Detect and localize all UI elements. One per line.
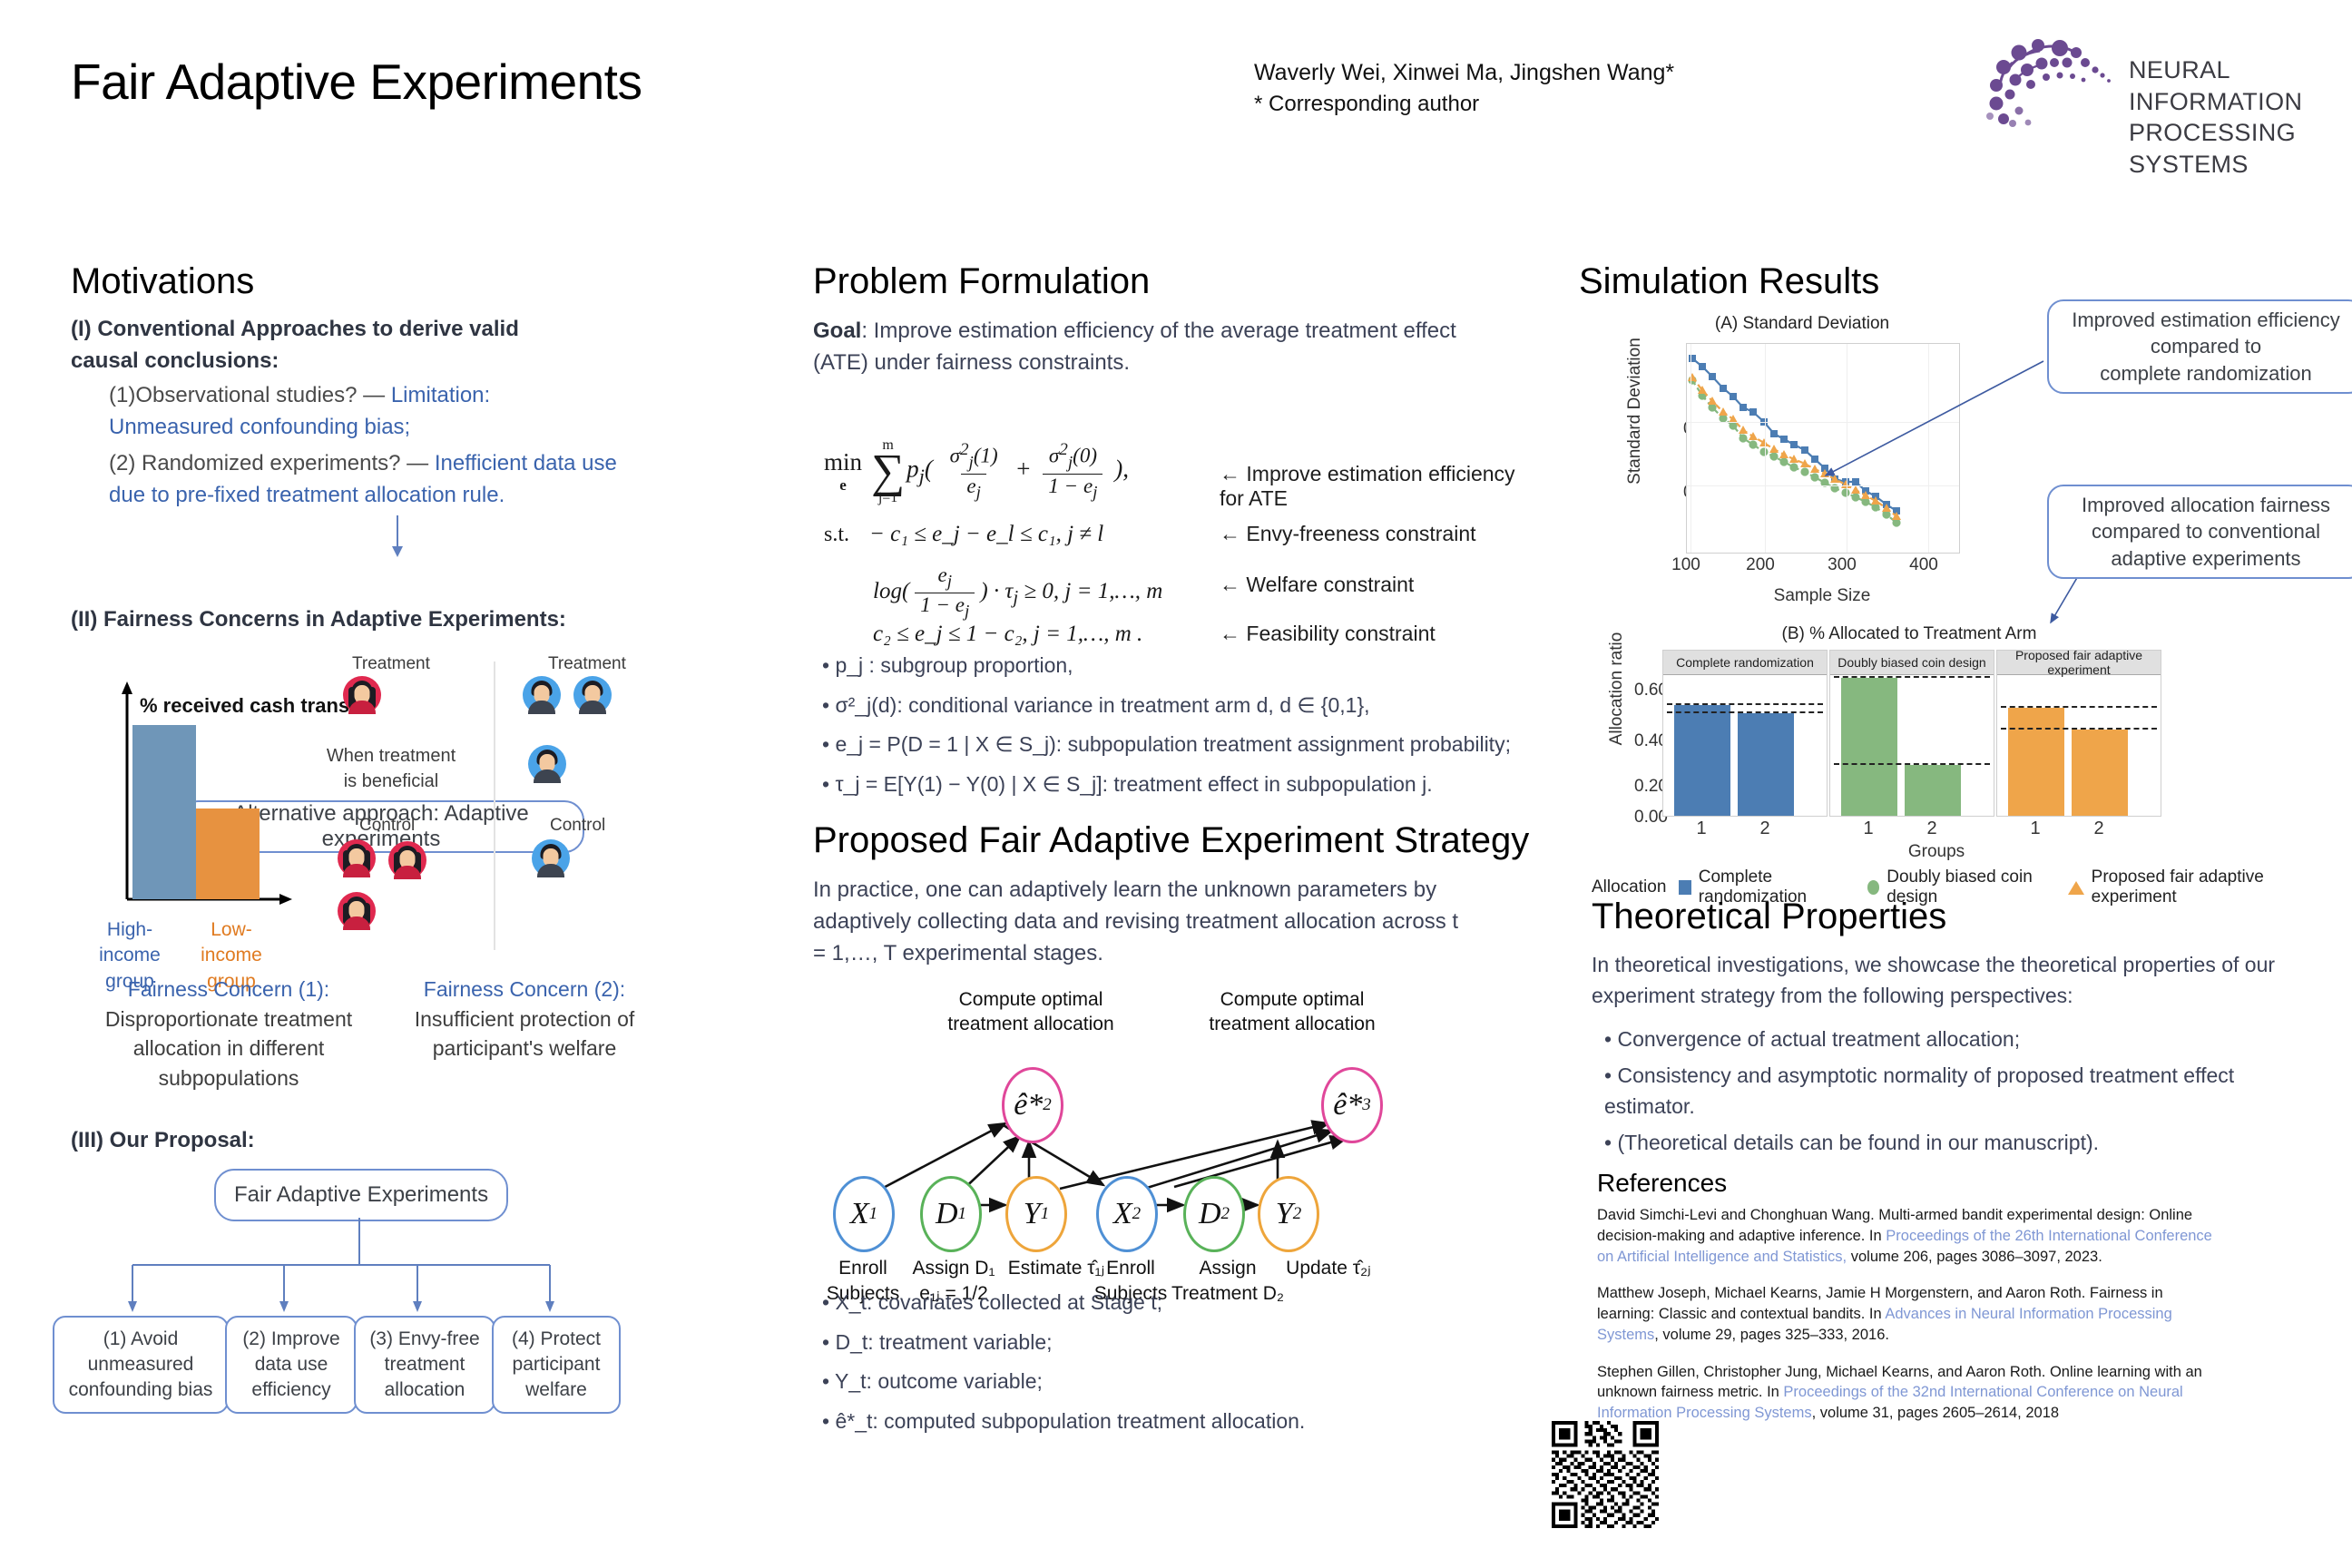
chart-a-xtick: 200 <box>1746 555 1775 575</box>
dag-node-x2: X2 <box>1096 1176 1158 1252</box>
chart-a-plot-area <box>1686 343 1960 554</box>
fairness-concern-2: Fairness Concern (2): Insufficient prote… <box>388 975 661 1063</box>
label-control-left: Control <box>359 816 415 836</box>
subject-to-label: s.t. <box>824 523 849 547</box>
reference-tail: volume 206, pages 3086–3097, 2023. <box>1847 1249 2102 1265</box>
proposal-leaf-4[interactable]: (4) Protect participant welfare <box>492 1316 621 1414</box>
facet-strip-label: Doubly biased coin design <box>1830 651 1994 675</box>
callout-fairness-line2: compared to conventional <box>2082 518 2330 544</box>
dag-node-x1: X1 <box>833 1176 895 1252</box>
avatar-male <box>523 676 561 714</box>
callout-efficiency: Improved estimation efficiency compared … <box>2047 299 2352 394</box>
chart-b-reference-line <box>2001 728 2157 730</box>
author-names: Waverly Wei, Xinwei Ma, Jingshen Wang* <box>1254 56 1674 89</box>
logo-text: NEURAL INFORMATION PROCESSING SYSTEMS <box>2129 54 2321 180</box>
problem-goal-text: : Improve estimation efficiency of the a… <box>813 318 1456 375</box>
legend-item-proposed: Proposed fair adaptive experiment <box>2068 867 2308 907</box>
section-title-problem-formulation: Problem Formulation <box>813 261 1150 302</box>
chart-b-bar <box>2008 708 2064 816</box>
avatar-female <box>338 892 376 930</box>
fairness-concern-2-body: Insufficient protection of participant's… <box>388 1004 661 1063</box>
chart-b-reference-line <box>1834 676 1990 678</box>
legend-circle-icon <box>1867 880 1879 895</box>
chart-b-reference-line <box>1834 763 1990 765</box>
bar-high-income <box>132 725 196 899</box>
note-line-2: is beneficial <box>305 769 477 794</box>
theory-paragraph: In theoretical investigations, we showca… <box>1592 949 2281 1011</box>
treatment-beneficial-note: When treatment is beneficial <box>305 743 477 794</box>
legend-square-icon <box>1679 880 1690 895</box>
variable-item: • X_t: covariates collected at Stage t; <box>822 1283 1539 1323</box>
treatment-allocation-illustration: Treatment When treatment is beneficial C… <box>305 654 704 954</box>
chart-a-series <box>1687 344 1959 553</box>
problem-goal: Goal: Improve estimation efficiency of t… <box>813 316 1475 379</box>
motivations-item-2: (2) Randomized experiments? — Inefficien… <box>109 447 617 511</box>
label-control-right: Control <box>550 816 605 836</box>
bar-label-low-income-line1: Low-income <box>181 917 281 969</box>
dag-footnote-y2: Update τ̂₂ⱼ <box>1265 1256 1392 1281</box>
cash-transfer-bar-chart: % received cash transfer High-income gro… <box>91 674 299 946</box>
reference-item: Stephen Gillen, Christopher Jung, Michae… <box>1597 1362 2223 1424</box>
fairness-illustration: % received cash transfer High-income gro… <box>71 647 706 954</box>
chart-a-xtick: 100 <box>1671 555 1700 575</box>
chart-a-xtick: 400 <box>1909 555 1938 575</box>
corresponding-author-note: * Corresponding author <box>1254 89 1674 121</box>
neurips-swirl-icon <box>1976 33 2131 132</box>
chart-b-x-axis-label: Groups <box>1646 842 2227 862</box>
chart-b-reference-line <box>1667 711 1823 713</box>
tree-connectors <box>71 1218 697 1327</box>
motivations-heading-2: (II) Fairness Concerns in Adaptive Exper… <box>71 604 566 636</box>
poster-canvas: Fair Adaptive Experiments Waverly Wei, X… <box>0 0 2352 1568</box>
fairness-concern-1: Fairness Concern (1): Disproportionate t… <box>93 975 365 1093</box>
chart-a-title: (A) Standard Deviation <box>1612 314 1993 334</box>
welfare-expression: log(ej1 − ej) · τj ≥ 0, j = 1,…, m <box>873 563 1162 622</box>
note-line-1: When treatment <box>305 743 477 769</box>
dag-caption-left-line2: treatment allocation <box>931 1012 1131 1036</box>
section-title-strategy: Proposed Fair Adaptive Experiment Strate… <box>813 820 1529 861</box>
fairness-concern-1-body: Disproportionate treatment allocation in… <box>93 1004 365 1093</box>
dag-node-d2: D2 <box>1183 1176 1245 1252</box>
dag-variable-definitions: • X_t: covariates collected at Stage t; … <box>822 1283 1539 1442</box>
neurips-logo: NEURAL INFORMATION PROCESSING SYSTEMS <box>1976 33 2321 132</box>
feasibility-expression: c₂ ≤ e_j ≤ 1 − c₂, j = 1,…, m . <box>873 622 1142 647</box>
avatar-female <box>338 839 376 877</box>
label-treatment-left: Treatment <box>352 654 430 674</box>
variable-item: • D_t: treatment variable; <box>822 1323 1539 1363</box>
theory-item: • (Theoretical details can be found in o… <box>1604 1127 2276 1158</box>
avatar-female <box>388 841 426 879</box>
variable-item: • ê*_t: computed subpopulation treatment… <box>822 1402 1539 1442</box>
panel-divider <box>494 661 495 950</box>
motivations-item-1-plain: (1)Observational studies? — <box>109 383 391 407</box>
down-arrow-icon <box>379 515 416 561</box>
chart-b-facet-doubly-biased-coin: Doubly biased coin design <box>1829 650 1994 817</box>
min-operator: min e <box>824 448 862 495</box>
callout-fairness-line1: Improved allocation fairness <box>2082 492 2330 518</box>
facet-strip-label: Complete randomization <box>1663 651 1827 675</box>
dag-node-y1: Y1 <box>1005 1176 1067 1252</box>
legend-triangle-icon <box>2068 881 2084 895</box>
proposal-leaf-3[interactable]: (3) Envy-free treatment allocation <box>354 1316 495 1414</box>
experiment-dag: Compute optimal treatment allocation Com… <box>813 987 1539 1287</box>
proposal-tree: (1) Avoid unmeasured confounding bias (2… <box>71 1218 697 1363</box>
label-treatment-right: Treatment <box>548 654 626 674</box>
optimization-problem: min e m ∑ j=1 pj( σ2j(1)ej + σ2j(0)1 − e… <box>813 438 1530 638</box>
facet-strip-label: Proposed fair adaptive experiment <box>1997 651 2161 675</box>
chart-allocation-ratio: (B) % Allocated to Treatment Arm Allocat… <box>1592 624 2308 860</box>
reference-item: Matthew Joseph, Michael Kearns, Jamie H … <box>1597 1283 2223 1345</box>
variable-item: • Y_t: outcome variable; <box>822 1362 1539 1402</box>
callout-efficiency-line1: Improved estimation efficiency <box>2072 307 2340 333</box>
chart-b-bar <box>1738 713 1794 816</box>
chart-b-reference-line <box>2001 706 2157 708</box>
chart-b-reference-line <box>1667 703 1823 705</box>
dag-caption-right: Compute optimal treatment allocation <box>1192 987 1392 1037</box>
fairness-concern-1-heading: Fairness Concern (1): <box>93 975 365 1004</box>
chart-b-y-axis-label: Allocation ratio <box>1607 598 1627 779</box>
bar-low-income <box>196 808 260 899</box>
chart-b-xtick: 1 <box>1863 818 1873 839</box>
proposal-root-box[interactable]: Fair Adaptive Experiments <box>214 1169 508 1221</box>
section-title-theoretical-properties: Theoretical Properties <box>1592 897 1946 937</box>
motivations-heading-3: (III) Our Proposal: <box>71 1125 255 1157</box>
motivations-item-2-plain: (2) Randomized experiments? — <box>109 451 435 475</box>
dag-node-e3-star: ê*3 <box>1321 1067 1383 1143</box>
dag-caption-right-line1: Compute optimal <box>1192 987 1392 1012</box>
dag-node-e2-star: ê*2 <box>1002 1067 1063 1143</box>
callout-fairness-line3: adaptive experiments <box>2082 545 2330 572</box>
dag-caption-left-line1: Compute optimal <box>931 987 1131 1012</box>
chart-b-bar <box>2072 730 2128 816</box>
section-title-references: References <box>1597 1169 1727 1198</box>
callout-efficiency-line2: compared to <box>2072 333 2340 359</box>
note-feasibility: ← Feasibility constraint <box>1220 622 1436 646</box>
legend-label: Proposed fair adaptive experiment <box>2092 867 2308 907</box>
definition-item: • p_j : subgroup proportion, <box>822 646 1539 686</box>
theory-item: • Convergence of actual treatment alloca… <box>1604 1024 2276 1054</box>
reference-item: David Simchi-Levi and Chonghuan Wang. Mu… <box>1597 1205 2223 1267</box>
fairness-concern-2-heading: Fairness Concern (2): <box>388 975 661 1004</box>
definition-item: • e_j = P(D = 1 | X ∈ S_j): subpopulatio… <box>822 725 1539 765</box>
dag-footnote-d1-line1: Assign D₁ <box>899 1256 1008 1281</box>
note-welfare: ← Welfare constraint <box>1220 573 1414 597</box>
theory-list: • Convergence of actual treatment alloca… <box>1604 1024 2276 1163</box>
chart-standard-deviation: (A) Standard Deviation Standard Deviatio… <box>1612 314 1993 613</box>
dag-caption-right-line2: treatment allocation <box>1192 1012 1392 1036</box>
note-envy-freeness: ← Envy-freeness constraint <box>1220 522 1476 546</box>
chart-b-xtick: 2 <box>2093 818 2103 839</box>
reference-tail: , volume 29, pages 325–333, 2016. <box>1654 1327 1889 1343</box>
author-list: Waverly Wei, Xinwei Ma, Jingshen Wang* *… <box>1254 56 1674 121</box>
bar-label-high-income-line1: High-income <box>80 917 180 969</box>
dag-node-y2: Y2 <box>1258 1176 1319 1252</box>
proposal-leaf-1[interactable]: (1) Avoid unmeasured confounding bias <box>53 1316 229 1414</box>
chart-a-xtick: 300 <box>1828 555 1857 575</box>
definition-item: • τ_j = E[Y(1) − Y(0) | X ∈ S_j]: treatm… <box>822 765 1539 805</box>
problem-goal-label: Goal <box>813 318 861 343</box>
chart-b-xtick: 1 <box>2030 818 2040 839</box>
chart-b-xtick: 2 <box>1759 818 1769 839</box>
chart-b-bar <box>1674 705 1730 816</box>
avatar-male <box>573 676 612 714</box>
note-objective: ← Improve estimation efficiency for ATE <box>1220 462 1530 511</box>
logo-line-1: NEURAL INFORMATION <box>2129 54 2321 117</box>
page-title: Fair Adaptive Experiments <box>71 53 642 111</box>
chart-b-title: (B) % Allocated to Treatment Arm <box>1592 624 2227 644</box>
motivations-item-1: (1)Observational studies? — Limitation: … <box>109 379 617 443</box>
chart-b-facet-proposed: Proposed fair adaptive experiment <box>1996 650 2161 817</box>
chart-b-xtick: 1 <box>1696 818 1706 839</box>
avatar-male <box>532 839 570 877</box>
chart-b-bar <box>1841 678 1897 816</box>
dag-caption-left: Compute optimal treatment allocation <box>931 987 1131 1037</box>
envy-freeness-expression: − c₁ ≤ e_j − e_l ≤ c₁, j ≠ l <box>869 522 1103 547</box>
dag-edges <box>813 1040 1539 1267</box>
qr-code[interactable] <box>1552 1421 1659 1528</box>
chart-b-facet-complete-randomization: Complete randomization <box>1662 650 1828 817</box>
callout-fairness: Improved allocation fairness compared to… <box>2047 485 2352 579</box>
avatar-female <box>343 676 381 714</box>
objective-expression: pj( σ2j(1)ej + σ2j(0)1 − ej ), <box>906 440 1129 503</box>
motivations-heading-1: (I) Conventional Approaches to derive va… <box>71 314 579 377</box>
summation-operator: m ∑ j=1 <box>871 438 905 505</box>
theory-item: • Consistency and asymptotic normality o… <box>1604 1060 2276 1122</box>
dag-node-d1: D1 <box>920 1176 982 1252</box>
reference-list: David Simchi-Levi and Chonghuan Wang. Mu… <box>1597 1205 2223 1440</box>
logo-line-2: PROCESSING SYSTEMS <box>2129 117 2321 180</box>
chart-a-x-axis-label: Sample Size <box>1686 586 1958 606</box>
chart-a-y-axis-label: Standard Deviation <box>1625 320 1645 502</box>
avatar-male <box>528 745 566 783</box>
section-title-simulation-results: Simulation Results <box>1579 261 1879 302</box>
strategy-paragraph: In practice, one can adaptively learn th… <box>813 875 1475 969</box>
callout-efficiency-line3: complete randomization <box>2072 360 2340 387</box>
proposal-leaf-2[interactable]: (2) Improve data use efficiency <box>225 1316 358 1414</box>
legend-title: Allocation <box>1592 877 1666 897</box>
chart-b-bar <box>1905 765 1961 816</box>
chart-b-xtick: 2 <box>1926 818 1936 839</box>
qr-code-icon[interactable] <box>1552 1421 1659 1528</box>
section-title-motivations: Motivations <box>71 261 254 302</box>
definition-item: • σ²_j(d): conditional variance in treat… <box>822 686 1539 726</box>
poster-header: Fair Adaptive Experiments Waverly Wei, X… <box>0 0 2352 145</box>
reference-tail: , volume 31, pages 2605–2614, 2018 <box>1812 1405 2059 1421</box>
symbol-definitions: • p_j : subgroup proportion, • σ²_j(d): … <box>822 646 1539 805</box>
